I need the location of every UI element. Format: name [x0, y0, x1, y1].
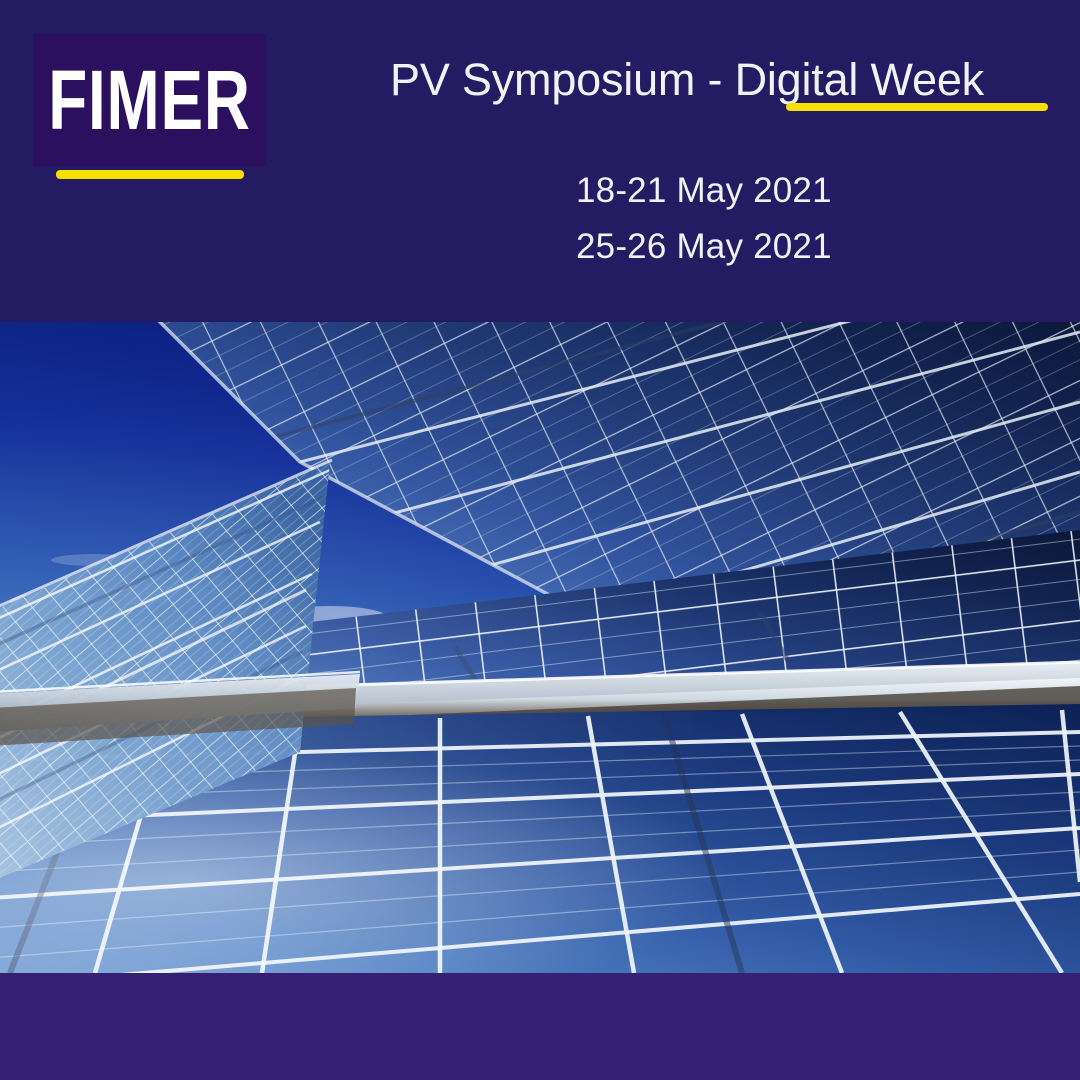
fimer-logo-block: FIMER — [33, 34, 266, 166]
event-dates: 18-21 May 2021 25-26 May 2021 — [576, 163, 996, 275]
event-title: PV Symposium - Digital Week — [390, 52, 1050, 108]
footer-band — [0, 973, 1080, 1080]
header-band: FIMER PV Symposium - Digital Week 18-21 … — [0, 0, 1080, 322]
event-date-line-1: 18-21 May 2021 — [576, 163, 996, 219]
solar-panel-photo — [0, 322, 1080, 973]
poster-root: FIMER PV Symposium - Digital Week 18-21 … — [0, 0, 1080, 1080]
title-accent-underline — [786, 103, 1048, 111]
solar-panel-illustration — [0, 322, 1080, 973]
event-date-line-2: 25-26 May 2021 — [576, 219, 996, 275]
fimer-logo-wordmark: FIMER — [61, 34, 238, 166]
logo-accent-underline — [56, 170, 244, 179]
event-title-wrap: PV Symposium - Digital Week — [390, 52, 1050, 114]
